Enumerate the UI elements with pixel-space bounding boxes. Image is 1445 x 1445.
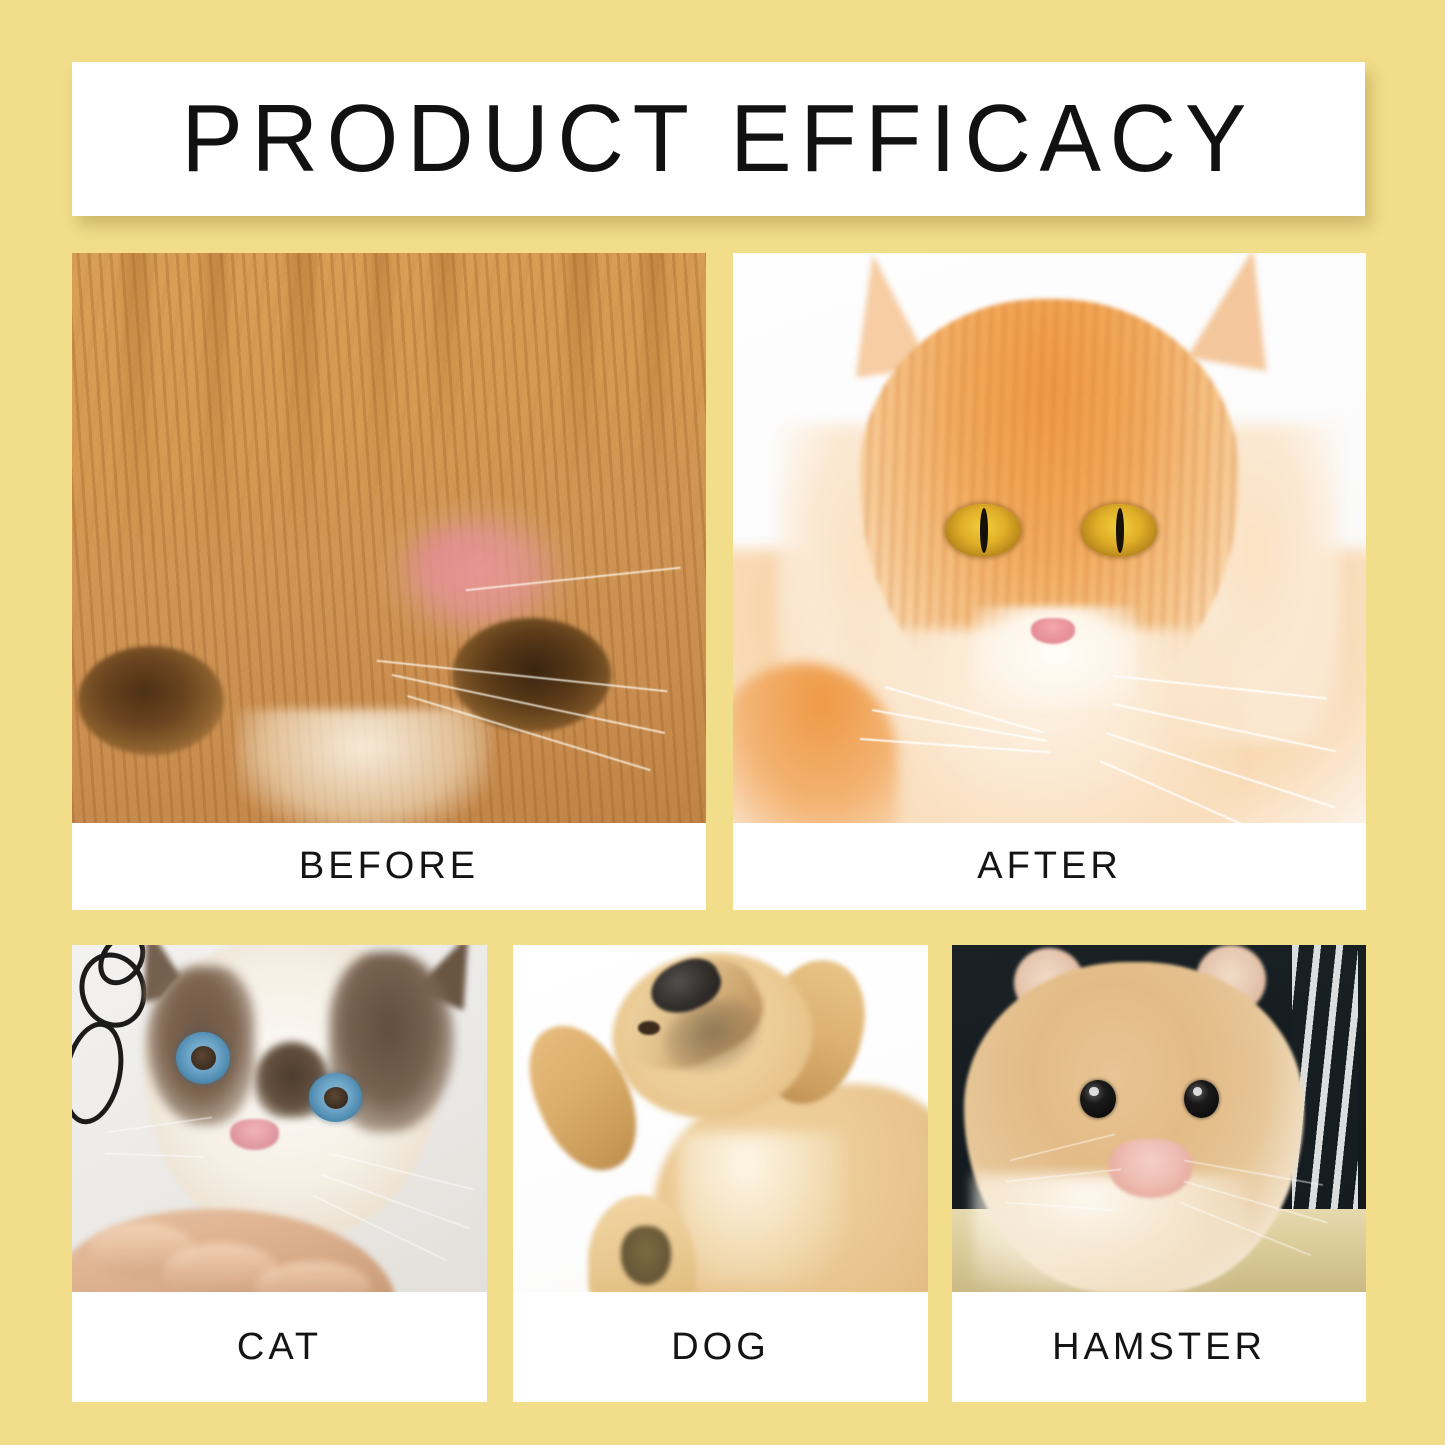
after-label-text: AFTER — [977, 845, 1122, 888]
after-label: AFTER — [733, 823, 1366, 910]
cat-muzzle — [237, 709, 491, 823]
dog-chest — [679, 1132, 845, 1285]
before-card[interactable]: BEFORE — [72, 253, 706, 910]
cage-bars-vertical — [1292, 945, 1358, 1216]
cat-eye-right — [1081, 504, 1157, 558]
dog-paw-pad — [621, 1226, 671, 1285]
hamster-photo — [952, 945, 1366, 1292]
cat-eye-right — [309, 1073, 363, 1122]
cat-label: CAT — [72, 1292, 487, 1402]
cat-eye-left — [78, 646, 224, 754]
dog-photo — [513, 945, 928, 1292]
page-title-banner: PRODUCT EFFICACY — [72, 62, 1365, 216]
hamster-label: HAMSTER — [952, 1292, 1366, 1402]
hamster-card[interactable]: HAMSTER — [952, 945, 1366, 1402]
cat-card[interactable]: CAT — [72, 945, 487, 1402]
cat-eye-left — [176, 1032, 230, 1084]
cat-photo — [72, 945, 487, 1292]
hamster-eye-left — [1080, 1080, 1115, 1118]
cat-nose — [230, 1119, 280, 1150]
cat-ear-right — [1188, 253, 1287, 371]
hamster-nose — [1109, 1139, 1192, 1198]
page-title: PRODUCT EFFICACY — [182, 91, 1256, 187]
cat-eye-left — [945, 504, 1021, 558]
cat-label-text: CAT — [237, 1326, 322, 1369]
hamster-belly — [973, 1174, 1246, 1292]
cat-nose — [1031, 618, 1075, 644]
before-photo — [72, 253, 706, 823]
after-photo — [733, 253, 1366, 823]
dog-label: DOG — [513, 1292, 928, 1402]
dog-label-text: DOG — [671, 1326, 770, 1369]
hamster-label-text: HAMSTER — [1052, 1326, 1266, 1369]
before-label: BEFORE — [72, 823, 706, 910]
after-card[interactable]: AFTER — [733, 253, 1366, 910]
dog-card[interactable]: DOG — [513, 945, 928, 1402]
before-label-text: BEFORE — [299, 845, 479, 888]
cable-icon — [72, 1016, 132, 1130]
